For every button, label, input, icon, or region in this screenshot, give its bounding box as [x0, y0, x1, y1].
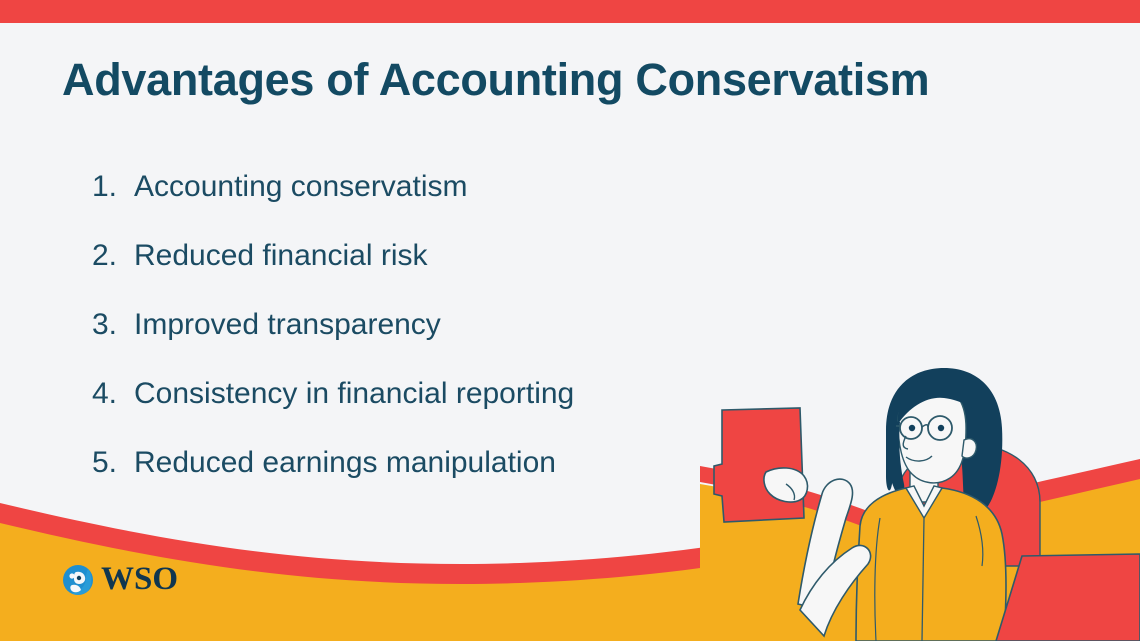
list-item: 4. Consistency in financial reporting	[92, 379, 792, 448]
list-item-number: 4.	[92, 379, 134, 409]
wso-globe-icon	[62, 564, 94, 596]
eye-right	[938, 425, 944, 431]
laptop-shape[interactable]	[996, 554, 1140, 641]
eye-left	[909, 425, 915, 431]
page-title: Advantages of Accounting Conservatism	[62, 55, 1082, 105]
list-item-number: 5.	[92, 448, 134, 478]
blouse-shape	[856, 488, 1006, 641]
list-item-number: 2.	[92, 241, 134, 271]
list-item-label: Reduced financial risk	[134, 241, 427, 271]
list-item: 5. Reduced earnings manipulation	[92, 448, 792, 517]
list-item-number: 3.	[92, 310, 134, 340]
list-item-label: Consistency in financial reporting	[134, 379, 574, 409]
list-item-label: Improved transparency	[134, 310, 441, 340]
top-accent-bar	[0, 0, 1140, 23]
ear-shape	[962, 439, 976, 458]
list-item-label: Accounting conservatism	[134, 172, 468, 202]
list-item-label: Reduced earnings manipulation	[134, 448, 556, 478]
list-item: 2. Reduced financial risk	[92, 241, 792, 310]
wso-logo-text: WSO	[101, 563, 178, 596]
slide-canvas: Advantages of Accounting Conservatism 1.…	[0, 0, 1140, 641]
list-item: 3. Improved transparency	[92, 310, 792, 379]
advantages-list: 1. Accounting conservatism 2. Reduced fi…	[92, 172, 792, 517]
wso-logo[interactable]: WSO	[62, 563, 178, 596]
list-item: 1. Accounting conservatism	[92, 172, 792, 241]
list-item-number: 1.	[92, 172, 134, 202]
